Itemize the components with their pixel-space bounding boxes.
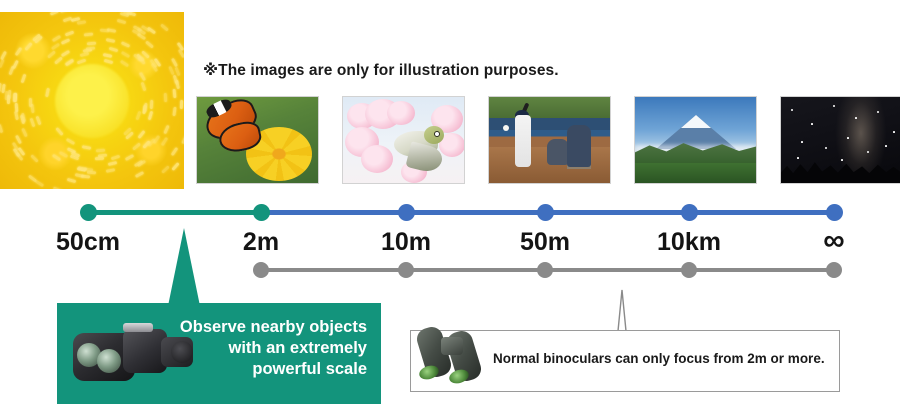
- scale-dot-50cm: [80, 204, 97, 221]
- hero-flower-photo: [0, 12, 184, 189]
- normal-binoculars-note: Normal binoculars can only focus from 2m…: [410, 330, 840, 392]
- focus-distance-scale: 50cm 2m 10m 50m 10km ∞: [0, 198, 900, 288]
- scale-gray-dot-infinity: [826, 262, 842, 278]
- scale-label-10m: 10m: [381, 228, 431, 257]
- highlight-line-2: with an extremely: [175, 338, 367, 359]
- thumbnail-butterfly-on-yellow-cosmos: [196, 96, 319, 184]
- scale-dot-50m: [537, 204, 554, 221]
- thumbnail-baseball-batter: [488, 96, 611, 184]
- thumbnail-strip: [196, 96, 900, 188]
- thumbnail-white-eye-bird-on-cherry-blossom: [342, 96, 465, 184]
- thumbnail-mount-fuji: [634, 96, 757, 184]
- scale-label-2m: 2m: [243, 228, 279, 257]
- scale-label-50cm: 50cm: [56, 228, 120, 257]
- scale-dot-2m: [253, 204, 270, 221]
- thumbnail-milky-way-night-sky: [780, 96, 900, 184]
- note-text: Normal binoculars can only focus from 2m…: [493, 351, 831, 366]
- flower-core: [55, 64, 129, 138]
- note-leader-line: [600, 288, 644, 332]
- scale-gray-dot-10km: [681, 262, 697, 278]
- highlight-line-1: Observe nearby objects: [175, 317, 367, 338]
- scale-dot-10km: [681, 204, 698, 221]
- scale-gray-dot-2m: [253, 262, 269, 278]
- scale-label-50m: 50m: [520, 228, 570, 257]
- standard-binoculars-icon: [417, 323, 493, 385]
- highlight-message: Observe nearby objects with an extremely…: [175, 317, 367, 380]
- highlight-callout: Observe nearby objects with an extremely…: [57, 303, 381, 404]
- scale-label-10km: 10km: [657, 228, 721, 257]
- scale-dot-infinity: [826, 204, 843, 221]
- scale-track-teal: [88, 210, 261, 215]
- teal-callout-pointer: [168, 228, 200, 306]
- scale-label-infinity: ∞: [823, 230, 844, 252]
- highlight-line-3: powerful scale: [175, 359, 367, 380]
- scale-dot-10m: [398, 204, 415, 221]
- illustration-disclaimer: ※The images are only for illustration pu…: [203, 61, 559, 80]
- scale-gray-dot-50m: [537, 262, 553, 278]
- infographic-stage: ※The images are only for illustration pu…: [0, 0, 900, 404]
- scale-gray-dot-10m: [398, 262, 414, 278]
